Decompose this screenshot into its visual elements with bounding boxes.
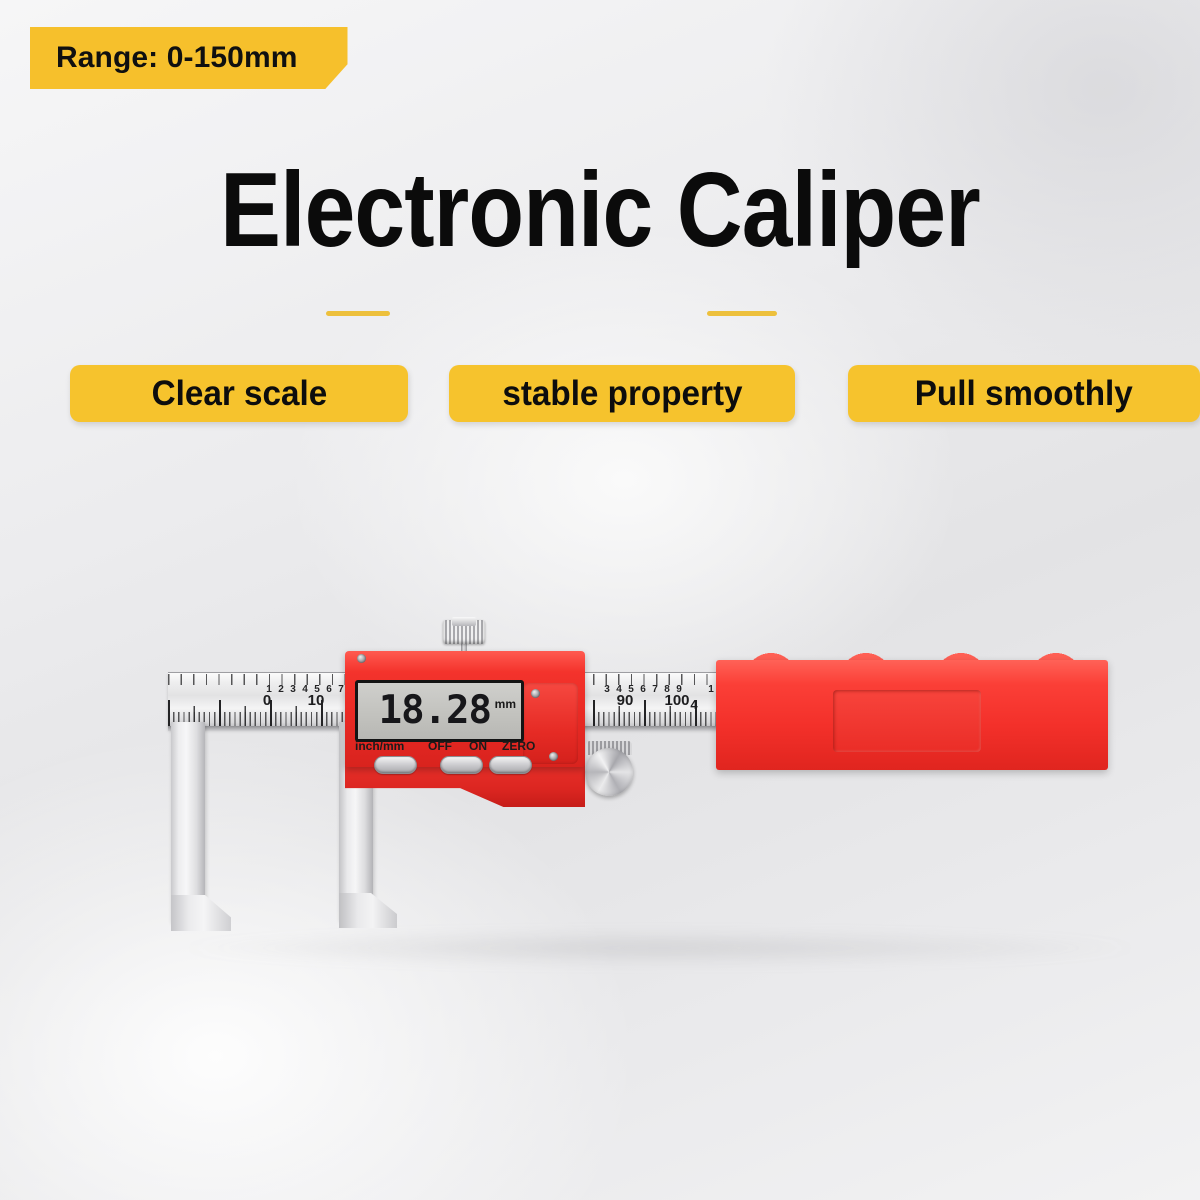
housing-screw-icon [531, 689, 540, 698]
fixed-jaw-arm [171, 722, 205, 922]
zero-button[interactable] [489, 756, 532, 774]
thumb-roller-wheel[interactable] [585, 748, 633, 796]
button-label-row: inch/mm OFF ON ZERO [352, 739, 542, 754]
mm-number: 10 [308, 692, 325, 709]
mm-number: 0 [263, 692, 271, 709]
inch-mm-button[interactable] [374, 756, 417, 774]
sliding-jaw-tip [339, 893, 397, 928]
button-label-inch-mm: inch/mm [355, 739, 404, 753]
thumb-screw-cap [452, 617, 476, 626]
housing-screw-icon [549, 752, 558, 761]
product-banner-image: Range: 0-150mm Electronic Caliper Clear … [0, 0, 1200, 1200]
on-off-button[interactable] [440, 756, 483, 774]
handle-recessed-panel [833, 690, 981, 752]
product-shadow [170, 930, 1150, 966]
lcd-screen: 18.28 mm [355, 680, 524, 742]
lcd-unit-label: mm [495, 697, 516, 711]
button-label-zero: ZERO [502, 739, 535, 753]
housing-screw-icon [357, 654, 366, 663]
lcd-measurement-value: 18.28 [379, 685, 491, 737]
button-label-off: OFF [428, 739, 452, 753]
fixed-jaw-tip [171, 895, 231, 931]
button-label-on: ON [469, 739, 487, 753]
digital-caliper-photo: 1 2 3 4 5 6 7 8 0 10 20 [0, 0, 1200, 1200]
mm-number: 90 [617, 692, 634, 709]
mm-number: 100 [664, 692, 689, 709]
